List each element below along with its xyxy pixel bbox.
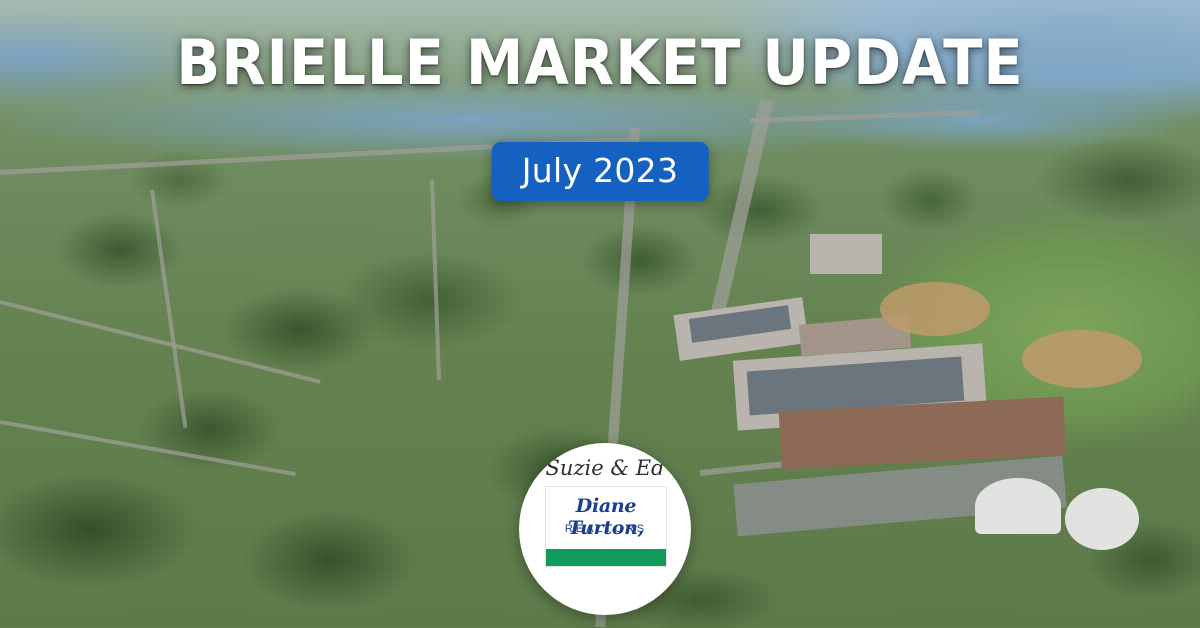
brand-subtitle: REALTORS — [546, 523, 666, 535]
logo-plate: Diane Turton, REALTORS — [545, 486, 667, 567]
page-title: BRIELLE MARKET UPDATE — [42, 32, 1158, 94]
brokerage-logo: Suzie & Ed Diane Turton, REALTORS — [519, 443, 691, 615]
agent-names: Suzie & Ed — [519, 456, 691, 480]
logo-accent-bar — [546, 549, 666, 566]
social-graphic-canvas: BRIELLE MARKET UPDATE July 2023 Suzie & … — [0, 0, 1200, 628]
date-badge: July 2023 — [492, 142, 709, 201]
